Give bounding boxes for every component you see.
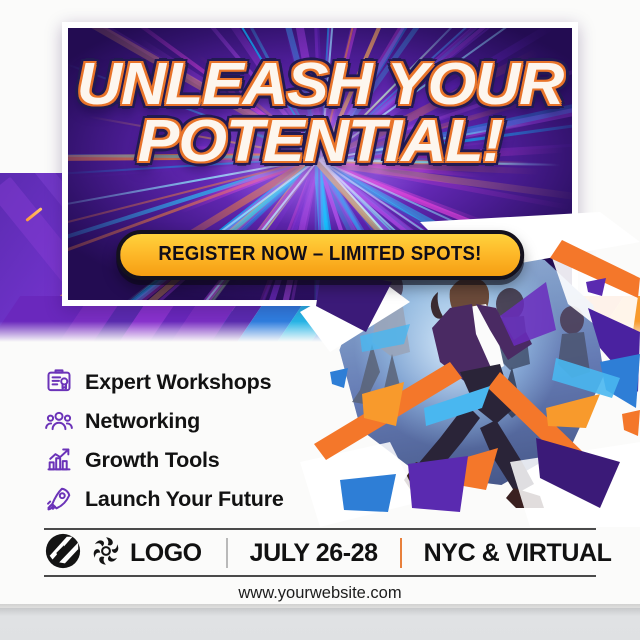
- certificate-icon: [44, 367, 74, 397]
- footer-website-url: www.yourwebsite.com: [0, 584, 640, 603]
- feature-list: Expert Workshops Networking: [44, 364, 324, 520]
- footer-rule-top: [44, 528, 596, 530]
- feature-item-networking: Networking: [44, 403, 324, 439]
- feature-label: Growth Tools: [85, 448, 220, 473]
- footer-bar: LOGO JULY 26-28 NYC & VIRTUAL: [44, 532, 596, 574]
- hero-card: UNLEASH YOUR POTENTIAL! REGISTER NOW – L…: [62, 22, 578, 306]
- poster-card: UNLEASH YOUR POTENTIAL! REGISTER NOW – L…: [0, 0, 640, 608]
- footer-divider-accent: [400, 538, 402, 568]
- feature-item-expert-workshops: Expert Workshops: [44, 364, 324, 400]
- circle-slash-logo-icon: [44, 532, 82, 575]
- footer-dates: JULY 26-28: [250, 539, 378, 568]
- register-cta-button[interactable]: REGISTER NOW – LIMITED SPOTS!: [116, 230, 524, 280]
- register-cta-label: REGISTER NOW – LIMITED SPOTS!: [158, 243, 481, 266]
- headline-line-1: UNLEASH YOUR: [68, 58, 572, 111]
- headline-line-2: POTENTIAL!: [68, 115, 572, 168]
- hero-headline: UNLEASH YOUR POTENTIAL!: [68, 58, 572, 168]
- feature-item-launch-your-future: Launch Your Future: [44, 481, 324, 517]
- rocket-icon: [44, 484, 74, 514]
- growth-chart-icon: [44, 445, 74, 475]
- footer-logo-text: LOGO: [130, 539, 202, 568]
- poster-canvas: UNLEASH YOUR POTENTIAL! REGISTER NOW – L…: [0, 0, 640, 640]
- feature-item-growth-tools: Growth Tools: [44, 442, 324, 478]
- card-drop-shadow: [0, 604, 640, 616]
- aperture-swirl-logo-icon: [89, 534, 123, 573]
- feature-label: Networking: [85, 409, 200, 434]
- footer-location: NYC & VIRTUAL: [424, 539, 612, 568]
- people-group-icon: [44, 406, 74, 436]
- feature-label: Launch Your Future: [85, 487, 284, 512]
- feature-label: Expert Workshops: [85, 370, 271, 395]
- footer-rule-bottom: [44, 575, 596, 577]
- footer-divider: [226, 538, 228, 568]
